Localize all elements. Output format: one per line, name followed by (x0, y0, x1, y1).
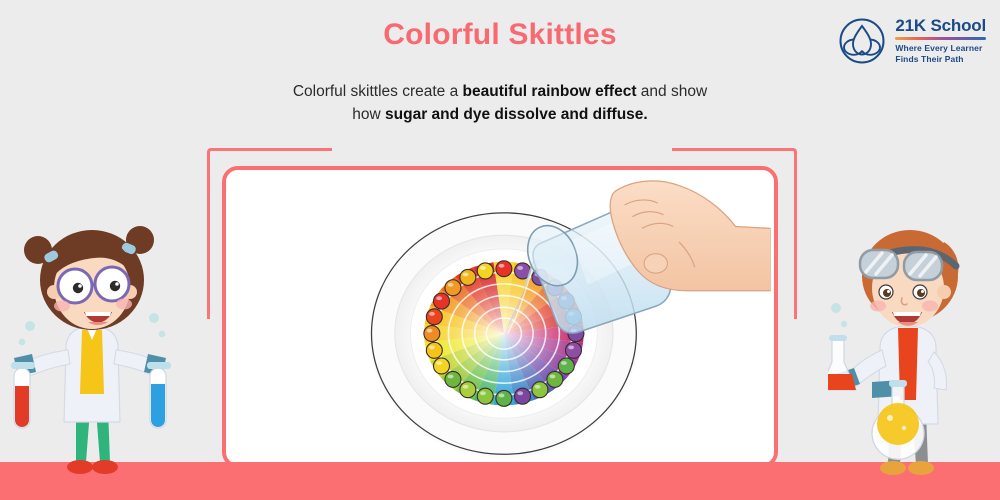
subtitle-text-2: and show (637, 83, 708, 100)
skittle-highlight (429, 312, 435, 316)
skittle-candy (565, 342, 581, 358)
skittle-highlight (436, 296, 442, 300)
skittle-highlight (480, 391, 486, 395)
flask-red (828, 335, 856, 390)
skittle-candy (460, 382, 476, 398)
skittle-candy (532, 382, 548, 398)
skittles-rainbow-experiment-illustration (226, 170, 774, 464)
skittle-highlight (429, 345, 435, 349)
illustration-card-inner (226, 170, 774, 464)
logo-tagline-line1: Where Every Learner (895, 43, 986, 54)
subtitle-highlight-1: beautiful rainbow effect (463, 83, 637, 100)
logo-tagline-line2: Finds Their Path (895, 54, 986, 65)
skittle-candy (434, 358, 450, 374)
skittle-highlight (517, 391, 523, 395)
skittle-candy (445, 371, 461, 387)
skittle-highlight (436, 361, 442, 365)
skittle-highlight (561, 361, 567, 365)
subtitle-line1: Colorful skittles create a beautiful rai… (293, 83, 707, 100)
brand-logo[interactable]: 21K School Where Every Learner Finds The… (838, 16, 986, 65)
test-tube-blue (147, 362, 171, 428)
logo-gradient-rule (895, 37, 986, 40)
skittle-candy (477, 388, 493, 404)
subtitle-text-1: Colorful skittles create a (293, 83, 463, 100)
skittle-highlight (463, 273, 469, 277)
logo-text-block: 21K School Where Every Learner Finds The… (895, 16, 986, 65)
skittle-highlight (568, 345, 574, 349)
subtitle-highlight-2: sugar and dye dissolve and diffuse. (385, 106, 648, 123)
skittle-candy (426, 309, 442, 325)
lotus-in-circle-icon (838, 17, 886, 65)
skittle-highlight (535, 385, 541, 389)
skittle-highlight (499, 264, 505, 268)
skittle-candy (460, 269, 476, 285)
boy-scientist-illustration (828, 222, 996, 484)
skittle-highlight (480, 266, 486, 270)
skittle-highlight (448, 375, 454, 379)
subtitle-text-3: how (352, 106, 385, 123)
skittle-candy (424, 326, 440, 342)
skittle-highlight (463, 385, 469, 389)
skittle-highlight (499, 394, 505, 398)
poster-canvas: Colorful Skittles Colorful skittles crea… (0, 0, 1000, 500)
skittle-candy (426, 342, 442, 358)
skittle-candy (496, 261, 512, 277)
skittle-candy (445, 280, 461, 296)
page-subtitle: Colorful skittles create a beautiful rai… (230, 80, 770, 126)
skittle-candy (515, 388, 531, 404)
illustration-card (222, 166, 778, 468)
logo-name: 21K School (895, 16, 986, 35)
skittle-candy (547, 371, 563, 387)
skittle-highlight (448, 283, 454, 287)
subtitle-line2: how sugar and dye dissolve and diffuse. (352, 106, 647, 123)
girl-scientist-illustration (2, 222, 178, 484)
skittle-highlight (550, 375, 556, 379)
skittle-candy (558, 358, 574, 374)
skittle-candy (434, 293, 450, 309)
skittle-highlight (517, 266, 523, 270)
skittle-candy (496, 390, 512, 406)
skittle-highlight (427, 329, 433, 333)
skittle-candy (477, 263, 493, 279)
